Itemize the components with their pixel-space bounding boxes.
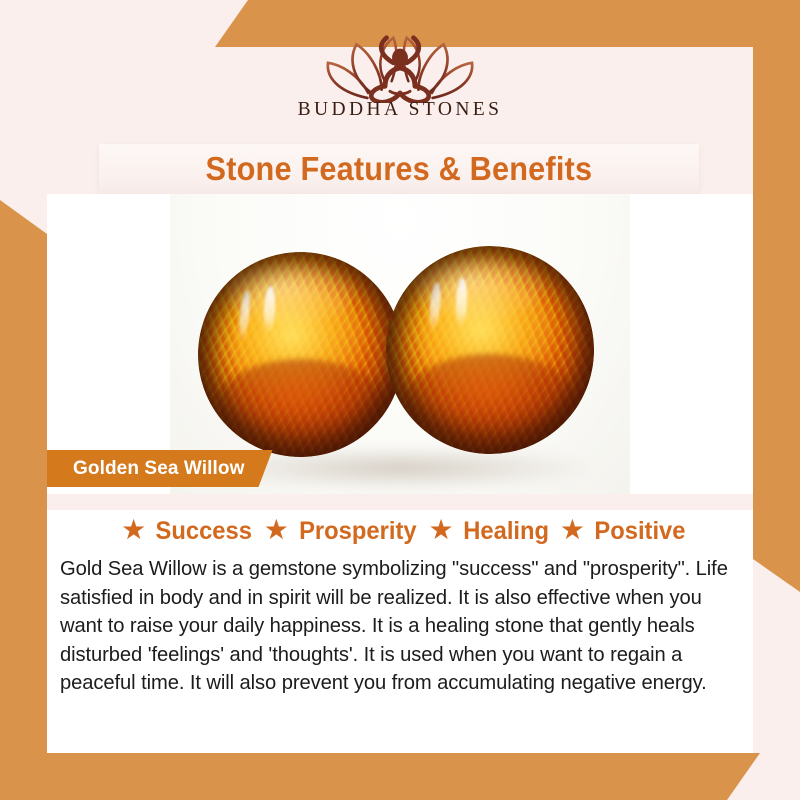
- benefits-list: ★ Success ★ Prosperity ★ Healing ★ Posit…: [47, 510, 753, 552]
- star-icon: ★: [428, 516, 453, 544]
- lotus-meditation-icon: [315, 31, 485, 103]
- frame-band-left: [0, 200, 47, 800]
- brand-logo: BUDDHA STONES: [47, 47, 753, 147]
- star-icon: ★: [560, 516, 585, 544]
- benefit-item: ★ Positive: [551, 517, 688, 546]
- product-photo-area: [47, 194, 753, 494]
- gemstone-sphere-right: [386, 246, 594, 454]
- star-icon: ★: [121, 516, 146, 544]
- benefit-item: ★ Prosperity: [255, 517, 420, 546]
- benefit-label: Positive: [594, 517, 685, 546]
- frame-band-top: [215, 0, 800, 47]
- benefits-separator: [47, 494, 753, 510]
- description-text: Gold Sea Willow is a gemstone symbolizin…: [60, 555, 731, 698]
- benefit-item: ★ Healing: [419, 517, 550, 546]
- benefit-item: ★ Success: [112, 517, 255, 546]
- description-block: Gold Sea Willow is a gemstone symbolizin…: [47, 555, 753, 698]
- brand-name: BUDDHA STONES: [298, 99, 503, 121]
- page-title: Stone Features & Benefits: [206, 150, 593, 188]
- poster-header: BUDDHA STONES Stone Features & Benefits: [47, 47, 753, 194]
- star-icon: ★: [264, 516, 289, 544]
- frame-band-right: [753, 0, 800, 592]
- benefit-label: Healing: [463, 517, 549, 546]
- poster-canvas: BUDDHA STONES Stone Features & Benefits: [0, 0, 800, 800]
- product-name-label: Golden Sea Willow: [73, 458, 245, 480]
- content-card: BUDDHA STONES Stone Features & Benefits: [47, 47, 753, 753]
- benefit-label: Success: [156, 517, 252, 546]
- gemstone-sphere-left: [198, 252, 403, 457]
- benefit-label: Prosperity: [299, 517, 416, 546]
- title-plaque: Stone Features & Benefits: [99, 144, 699, 194]
- frame-band-bottom: [0, 753, 760, 800]
- product-photo: [170, 194, 630, 494]
- product-name-badge: Golden Sea Willow: [47, 450, 273, 487]
